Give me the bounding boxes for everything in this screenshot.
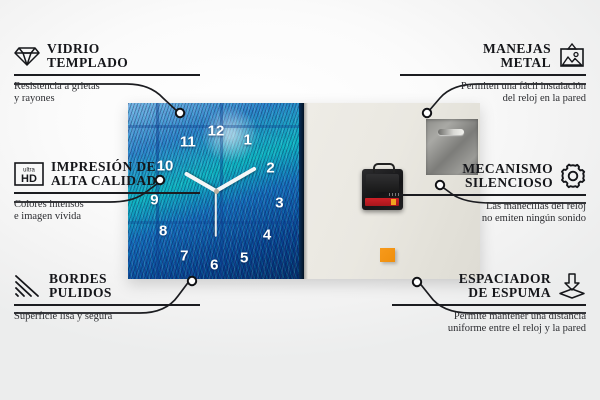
callout-espaciador-espuma: ESPACIADOR DE ESPUMA Permite mantener un… [392,272,586,336]
callout-title-line2: DE ESPUMA [392,286,551,300]
clock-mechanism [362,169,403,210]
ultra-hd-icon: ultra HD [14,162,44,186]
callout-title-line1: MECANISMO [400,162,553,176]
arrow-onto-pad-icon [558,273,586,299]
foam-spacer [380,248,395,262]
callout-sub-line1: Superficie lisa y segura [14,311,200,324]
callout-sub-line2: uniforme entre el reloj y la pared [392,323,586,336]
clock-number-7: 7 [180,249,188,264]
battery-marker [391,199,396,205]
callout-rule [400,194,586,196]
callout-title-line2: METAL [400,56,551,70]
callout-title-line2: ALTA CALIDAD [51,174,157,188]
clock-number-6: 6 [210,257,218,272]
mechanism-body [366,174,399,192]
callout-sub-line1: Permite mantener una distancia [392,311,586,324]
callout-sub-line2: no emiten ningún sonido [400,213,586,226]
clock-number-12: 12 [208,124,225,139]
clock-number-2: 2 [266,161,274,176]
callout-sub-line1: Resistencia a grietas [14,81,200,94]
callout-title-line1: VIDRIO [47,42,128,56]
framed-picture-hanging-icon [558,43,586,69]
clock-number-8: 8 [159,224,167,239]
callout-sub-line1: Colores intensos [14,199,200,212]
callout-title-line2: SILENCIOSO [400,176,553,190]
callout-sub-line2: del reloj en la pared [400,93,586,106]
clock-number-5: 5 [240,250,248,265]
callout-rule [14,304,200,306]
callout-rule [14,192,200,194]
callout-sub-line1: Permiten una fácil instalación [400,81,586,94]
clock-center-cap [214,189,219,194]
svg-text:HD: HD [21,173,37,185]
callout-manejas-metal: MANEJAS METAL Permiten una fácil instala… [400,42,586,106]
callout-title-line1: MANEJAS [400,42,551,56]
callout-mecanismo-silencioso: MECANISMO SILENCIOSO Las manecillas del … [400,162,586,226]
callout-impresion-alta-calidad: ultra HD IMPRESIÓN DE ALTA CALIDAD Color… [14,160,200,224]
infographic-canvas: 12 1 2 3 4 5 6 7 8 9 10 11 [0,0,600,400]
callout-title-line2: TEMPLADO [47,56,128,70]
callout-sub-line2: e imagen vívida [14,211,200,224]
callout-rule [400,74,586,76]
callout-title-line2: PULIDOS [49,286,112,300]
clock-number-3: 3 [275,196,283,211]
callout-rule [392,304,586,306]
callout-rule [14,74,200,76]
diamond-icon [14,45,40,67]
polished-edge-icon [14,274,42,298]
hanger-slot [438,129,464,135]
clock-number-4: 4 [263,228,271,243]
callout-sub-line2: y rayones [14,93,200,106]
clock-number-1: 1 [244,132,252,147]
clock-second-hand [215,191,217,237]
callout-title-line1: IMPRESIÓN DE [51,160,157,174]
mechanism-hook [373,163,395,173]
gear-icon [560,163,586,189]
mechanism-battery-strip [365,198,399,206]
clock-number-11: 11 [180,134,196,149]
callout-vidrio-templado: VIDRIO TEMPLADO Resistencia a grietas y … [14,42,200,106]
callout-sub-line1: Las manecillas del reloj [400,201,586,214]
callout-title-line1: ESPACIADOR [392,272,551,286]
callout-bordes-pulidos: BORDES PULIDOS Superficie lisa y segura [14,272,200,323]
mechanism-label-dots [389,193,399,196]
callout-title-line1: BORDES [49,272,112,286]
